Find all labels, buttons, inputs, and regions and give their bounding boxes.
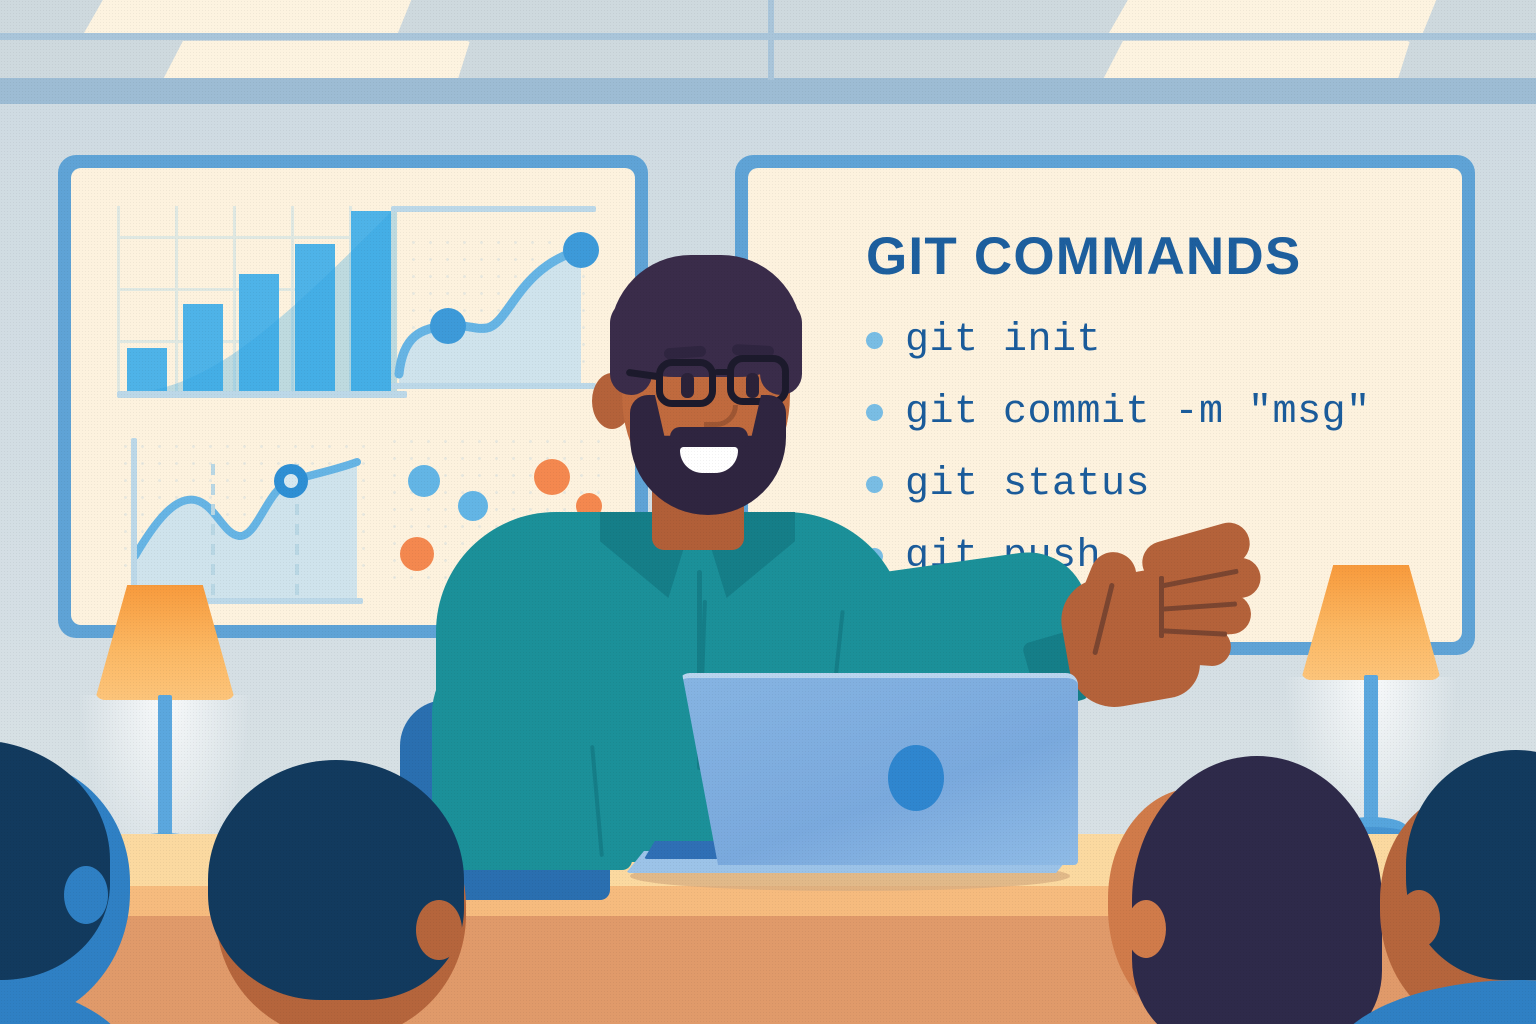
git-command-item: git status (866, 460, 1426, 508)
bar-chart-axis (117, 391, 407, 398)
glasses-bridge (714, 369, 730, 375)
scatter-point-orange (534, 459, 570, 495)
glasses-lens-right (727, 355, 789, 405)
git-command-text: git init (905, 318, 1101, 363)
area-chart-top-marker (563, 232, 599, 268)
area-chart-top (391, 206, 606, 396)
lamp-shade-right (1301, 565, 1441, 680)
audience-member-4-ear (1398, 890, 1440, 948)
ceiling-grid-line-vertical (768, 0, 774, 80)
bullet-icon (866, 404, 883, 421)
bar-chart-bar (239, 274, 279, 396)
whiteboard-title: GIT COMMANDS (866, 226, 1301, 287)
git-command-text: git commit -m "msg" (905, 390, 1371, 435)
bar-chart-gridline (175, 206, 178, 391)
scatter-point-orange (400, 537, 434, 571)
audience-member-2-hair (208, 760, 464, 1000)
bar-chart-bar (351, 211, 391, 396)
bar-chart-gridline (291, 206, 294, 391)
audience-member-3-ear (1126, 900, 1166, 958)
git-command-item: git commit -m "msg" (866, 388, 1426, 436)
ceiling (0, 0, 1536, 104)
audience-member-1 (0, 740, 180, 1024)
presenter-hair-side-left (610, 299, 652, 395)
bullet-icon (866, 476, 883, 493)
presenter-mustache (670, 427, 748, 447)
knuckle-line (1159, 576, 1164, 638)
bar-chart (117, 206, 357, 396)
bar-chart-bar (183, 304, 223, 396)
bar-chart-gridline (117, 288, 317, 291)
area-chart-bottom-axis-y (131, 438, 137, 603)
presenter-hand-open-palm (1055, 530, 1265, 715)
bar-chart-gridline (117, 206, 120, 391)
bar-chart-bar (295, 244, 335, 396)
laptop-logo-icon (888, 745, 944, 811)
audience-member-2-ear (416, 900, 462, 960)
git-command-text: git status (905, 462, 1150, 507)
classroom-scene: GIT COMMANDS git init git commit -m "msg… (0, 0, 1536, 1024)
bar-chart-bar (127, 348, 167, 396)
scatter-point-blue (408, 465, 440, 497)
area-chart-top-axis (391, 383, 596, 389)
bullet-icon (866, 332, 883, 349)
audience-member-1-ear (64, 866, 108, 924)
audience-member-3-hair (1132, 756, 1382, 1024)
laptop-lid (678, 673, 1078, 865)
presenter-head (600, 255, 810, 525)
laptop[interactable] (620, 665, 1080, 895)
area-chart-top-marker (430, 308, 466, 344)
bar-chart-gridline (117, 236, 352, 239)
audience-member-4 (1370, 740, 1536, 1024)
audience-member-2 (196, 760, 506, 1024)
git-command-item: git init (866, 316, 1426, 364)
lamp-shade-left (95, 585, 235, 700)
scatter-point-blue (458, 491, 488, 521)
area-chart-top-plot (391, 206, 606, 396)
area-chart-bottom-marker-ring-hole (284, 474, 298, 488)
presenter-soul-patch (696, 477, 722, 497)
bar-chart-gridline (233, 206, 236, 391)
glasses-lens-left (656, 359, 716, 407)
